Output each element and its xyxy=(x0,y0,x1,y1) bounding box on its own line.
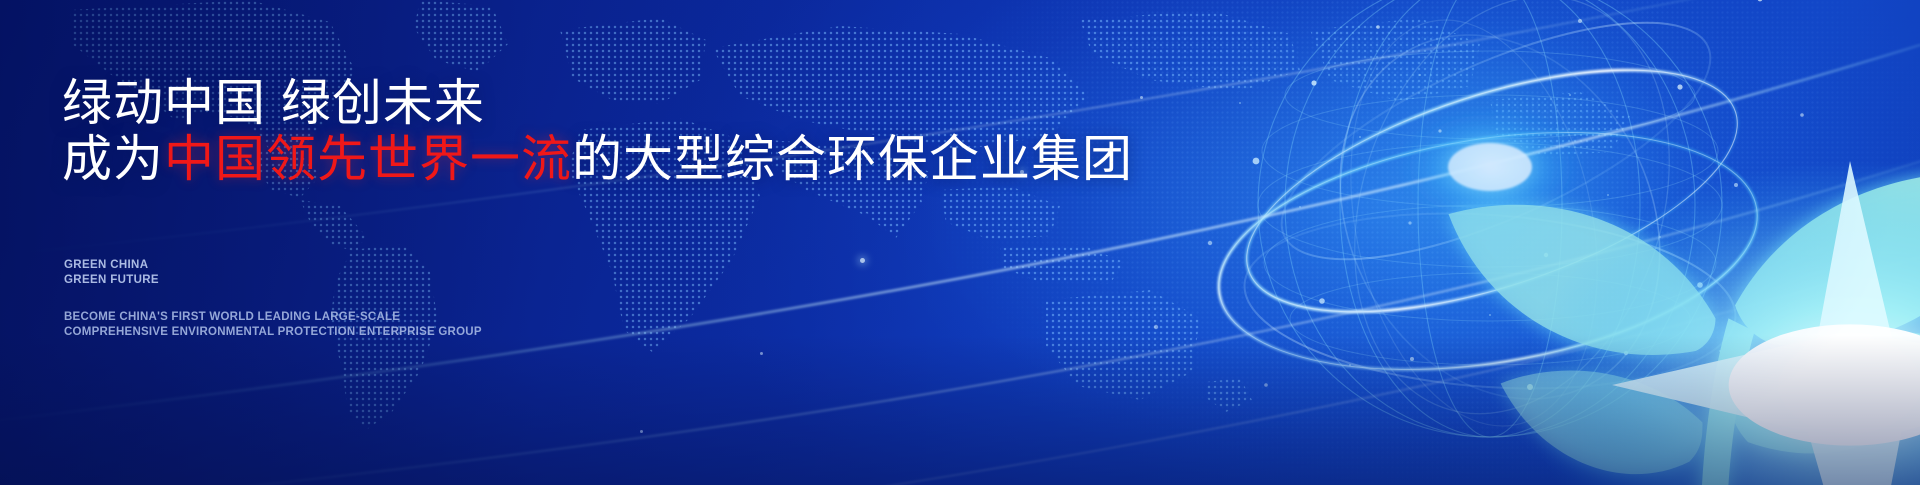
banner-copy: 绿动中国 绿创未来 成为中国领先世界一流的大型综合环保企业集团 GREEN CH… xyxy=(62,0,1062,485)
subtitle-en-line-2: COMPREHENSIVE ENVIRONMENTAL PROTECTION E… xyxy=(64,325,482,340)
subtitle-en: BECOME CHINA'S FIRST WORLD LEADING LARGE… xyxy=(64,310,482,340)
headline-line-2: 成为中国领先世界一流的大型综合环保企业集团 xyxy=(62,130,1133,189)
tagline-en: GREEN CHINA GREEN FUTURE xyxy=(64,258,159,288)
headline-highlight: 中国领先世界一流 xyxy=(164,131,572,187)
headline-suffix: 的大型综合环保企业集团 xyxy=(572,131,1133,187)
sparkle xyxy=(1140,96,1143,99)
subtitle-en-line-1: BECOME CHINA'S FIRST WORLD LEADING LARGE… xyxy=(64,310,482,325)
tagline-en-line-2: GREEN FUTURE xyxy=(64,273,159,288)
headline-prefix: 成为 xyxy=(62,131,164,187)
tagline-en-line-1: GREEN CHINA xyxy=(64,258,159,273)
light-burst-icon xyxy=(1420,105,1920,485)
sprout-icon xyxy=(1292,110,1920,485)
headline-line-1: 绿动中国 绿创未来 xyxy=(62,74,485,133)
wireframe-globe xyxy=(1060,0,1920,485)
hero-banner: 绿动中国 绿创未来 成为中国领先世界一流的大型综合环保企业集团 GREEN CH… xyxy=(0,0,1920,485)
